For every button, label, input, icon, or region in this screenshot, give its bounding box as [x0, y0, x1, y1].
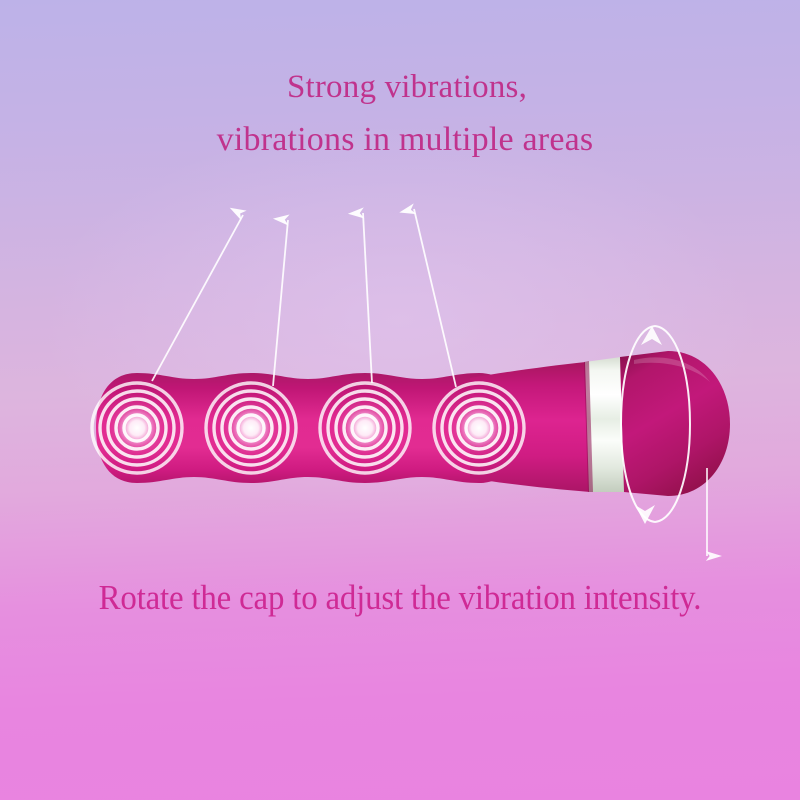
- pointer-arrow-2: [273, 220, 288, 386]
- metal-control-band: [584, 357, 625, 492]
- vibration-node-2: [206, 383, 296, 473]
- rotating-cap: [620, 351, 730, 496]
- product-feature-poster: Strong vibrations, vibrations in multipl…: [0, 0, 800, 800]
- headline: Strong vibrations, vibrations in multipl…: [0, 62, 800, 167]
- pointer-arrow-1: [152, 215, 243, 381]
- vibration-node-4: [434, 383, 524, 473]
- pointer-arrow-3: [363, 213, 372, 383]
- pointer-arrow-group: [152, 209, 456, 387]
- vibration-node-3: [320, 383, 410, 473]
- caption-text: Rotate the cap to adjust the vibration i…: [24, 578, 776, 618]
- rotation-arrowhead-top: [641, 326, 662, 345]
- cap-shape: [620, 351, 730, 496]
- pointer-arrow-4: [414, 209, 456, 387]
- vibration-node-1: [92, 383, 182, 473]
- headline-line-1: Strong vibrations,: [0, 62, 800, 113]
- headline-line-2: vibrations in multiple areas: [0, 113, 800, 166]
